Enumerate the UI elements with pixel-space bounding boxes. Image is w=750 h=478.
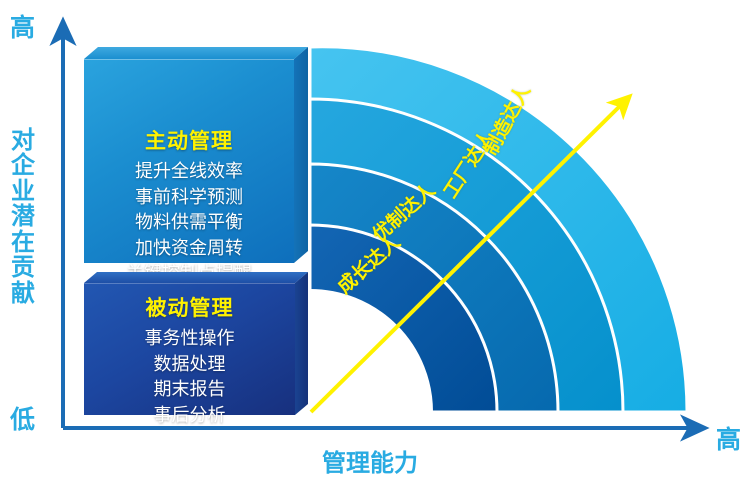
y-axis-title: 对企业潜在贡献 <box>8 128 38 306</box>
box-active-top-face <box>84 47 308 59</box>
box-passive-line-3: 事后分析 <box>84 403 295 429</box>
box-passive-title: 被动管理 <box>84 292 295 322</box>
box-active-line-3: 加快资金周转 <box>84 236 294 262</box>
box-passive-content: 被动管理 事务性操作 数据处理 期末报告 事后分析 <box>84 292 295 428</box>
box-active-line-2: 物料供需平衡 <box>84 210 294 236</box>
diagram-canvas: 成长达人 优制达人 工厂达人 制造达人 主动管理 提升全线效率 事前科学预测 物… <box>0 0 750 478</box>
box-active-side-face <box>294 47 308 263</box>
box-passive-side-face <box>295 272 308 415</box>
box-passive-top-face <box>84 272 308 283</box>
y-axis-high-label: 高 <box>10 8 35 44</box>
box-passive-line-1: 数据处理 <box>84 352 295 378</box>
box-active-line-0: 提升全线效率 <box>84 159 294 185</box>
box-passive-line-0: 事务性操作 <box>84 326 295 352</box>
box-passive-management[interactable]: 被动管理 事务性操作 数据处理 期末报告 事后分析 <box>84 272 308 415</box>
x-axis-high-label: 高 <box>716 420 741 456</box>
box-active-management[interactable]: 主动管理 提升全线效率 事前科学预测 物料供需平衡 加快资金周转 关键控制点提醒 <box>84 47 308 263</box>
y-axis-low-label: 低 <box>10 400 35 436</box>
box-active-content: 主动管理 提升全线效率 事前科学预测 物料供需平衡 加快资金周转 关键控制点提醒 <box>84 125 294 287</box>
x-axis-title: 管理能力 <box>322 443 418 478</box>
box-passive-line-2: 期末报告 <box>84 377 295 403</box>
box-active-title: 主动管理 <box>84 125 294 155</box>
box-active-line-1: 事前科学预测 <box>84 185 294 211</box>
